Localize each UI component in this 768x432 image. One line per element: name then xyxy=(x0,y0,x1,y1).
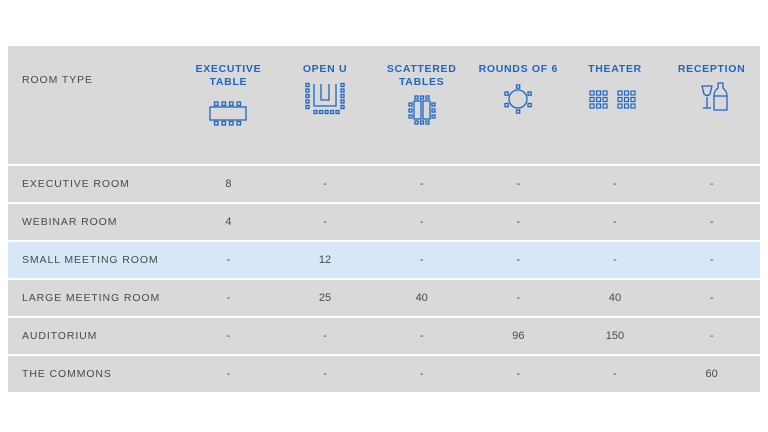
row-label: SMALL MEETING ROOM xyxy=(8,241,180,279)
cell-value: - xyxy=(373,241,470,279)
cell-value: - xyxy=(373,165,470,203)
cell-value: - xyxy=(663,241,760,279)
cell-value: 40 xyxy=(373,279,470,317)
cell-value: 150 xyxy=(567,317,664,355)
column-header-scattered-tables: SCATTERED TABLES xyxy=(373,46,470,165)
table-row: AUDITORIUM - - - 96 150 - xyxy=(8,317,760,355)
table-row-highlighted: SMALL MEETING ROOM - 12 - - - - xyxy=(8,241,760,279)
cell-value: - xyxy=(470,203,567,241)
reception-icon xyxy=(680,83,744,117)
header-row: ROOM TYPE EXECUTIVE TABLE xyxy=(8,46,760,165)
column-header-label: SCATTERED TABLES xyxy=(378,63,466,89)
cell-value: - xyxy=(180,317,277,355)
row-label: EXECUTIVE ROOM xyxy=(8,165,180,203)
rounds-of-6-icon xyxy=(486,83,550,117)
cell-value: - xyxy=(663,203,760,241)
cell-value: - xyxy=(180,241,277,279)
cell-value: - xyxy=(663,279,760,317)
column-header-room-type: ROOM TYPE xyxy=(8,46,180,165)
cell-value: - xyxy=(373,317,470,355)
column-header-open-u: OPEN U xyxy=(277,46,374,165)
cell-value: - xyxy=(663,165,760,203)
row-label: THE COMMONS xyxy=(8,355,180,392)
executive-table-icon xyxy=(196,96,260,130)
table-body: EXECUTIVE ROOM 8 - - - - - WEBINAR ROOM … xyxy=(8,165,760,392)
cell-value: - xyxy=(567,203,664,241)
table-row: LARGE MEETING ROOM - 25 40 - 40 - xyxy=(8,279,760,317)
room-type-label: ROOM TYPE xyxy=(22,74,93,86)
cell-value: - xyxy=(567,241,664,279)
cell-value: - xyxy=(470,165,567,203)
table-row: EXECUTIVE ROOM 8 - - - - - xyxy=(8,165,760,203)
room-capacity-table: ROOM TYPE EXECUTIVE TABLE xyxy=(8,46,760,392)
cell-value: 25 xyxy=(277,279,374,317)
open-u-icon xyxy=(293,83,357,117)
column-header-rounds-of-6: ROUNDS OF 6 xyxy=(470,46,567,165)
cell-value: - xyxy=(663,317,760,355)
row-label: LARGE MEETING ROOM xyxy=(8,279,180,317)
table-header: ROOM TYPE EXECUTIVE TABLE xyxy=(8,46,760,165)
column-header-theater: THEATER xyxy=(567,46,664,165)
column-header-label: RECEPTION xyxy=(678,63,746,76)
cell-value: - xyxy=(277,355,374,392)
column-header-label: ROUNDS OF 6 xyxy=(479,63,558,76)
cell-value: - xyxy=(277,165,374,203)
scattered-tables-icon xyxy=(390,96,454,130)
cell-value: - xyxy=(470,279,567,317)
cell-value: - xyxy=(567,355,664,392)
slide-canvas: ROOM TYPE EXECUTIVE TABLE xyxy=(0,0,768,432)
cell-value: - xyxy=(373,203,470,241)
cell-value: - xyxy=(277,317,374,355)
cell-value: - xyxy=(373,355,470,392)
cell-value: 40 xyxy=(567,279,664,317)
column-header-label: OPEN U xyxy=(303,63,347,76)
cell-value: - xyxy=(470,355,567,392)
cell-value: - xyxy=(470,241,567,279)
column-header-executive-table: EXECUTIVE TABLE xyxy=(180,46,277,165)
cell-value: - xyxy=(567,165,664,203)
row-label: WEBINAR ROOM xyxy=(8,203,180,241)
cell-value: - xyxy=(180,279,277,317)
cell-value: 60 xyxy=(663,355,760,392)
row-label: AUDITORIUM xyxy=(8,317,180,355)
column-header-label: THEATER xyxy=(588,63,642,76)
theater-icon xyxy=(580,83,650,117)
cell-value: 4 xyxy=(180,203,277,241)
column-header-reception: RECEPTION xyxy=(663,46,760,165)
cell-value: - xyxy=(277,203,374,241)
column-header-label: EXECUTIVE TABLE xyxy=(184,63,272,89)
cell-value: 8 xyxy=(180,165,277,203)
cell-value: 12 xyxy=(277,241,374,279)
cell-value: 96 xyxy=(470,317,567,355)
cell-value: - xyxy=(180,355,277,392)
table-row: THE COMMONS - - - - - 60 xyxy=(8,355,760,392)
table-row: WEBINAR ROOM 4 - - - - - xyxy=(8,203,760,241)
